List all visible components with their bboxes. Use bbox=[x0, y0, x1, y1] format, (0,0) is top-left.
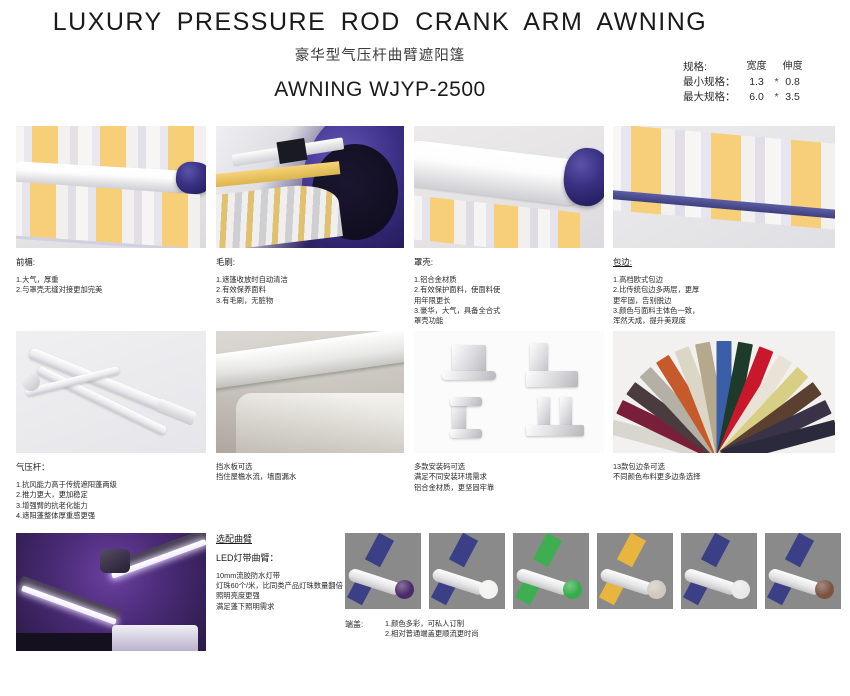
endcap-white bbox=[479, 580, 498, 599]
caption-line: 3.颜色与面料主体色一致， bbox=[613, 306, 835, 316]
fabric-swatch-upper bbox=[785, 533, 814, 567]
cassette-body bbox=[414, 139, 586, 207]
bracket-2-base bbox=[526, 371, 578, 387]
caption-heading: 罩壳: bbox=[414, 257, 604, 269]
table-row: 最小规格： 1.3 * 0.8 bbox=[683, 75, 808, 90]
wall-shadow bbox=[216, 331, 404, 453]
caption-line: 2.比传统包边多两层，更厚 bbox=[613, 285, 835, 295]
caption-endcaps: 端盖: 1.颜色多彩，可私人订制 2.相对普通端盖更顺流更时尚 bbox=[345, 619, 665, 640]
caption-line: 多款安装码可选 bbox=[414, 462, 604, 472]
caption-line: 浑然天成，提升美观度 bbox=[613, 316, 835, 326]
caption-line: 13款包边条可选 bbox=[613, 462, 835, 472]
shadow-foreground bbox=[16, 633, 112, 651]
spec-row-max-width: 6.0 bbox=[746, 90, 772, 105]
photo-gas-strut bbox=[16, 331, 206, 453]
caption-heading: 气压杆： bbox=[16, 462, 206, 474]
caption-line: 更牢固，告别脱边 bbox=[613, 296, 835, 306]
page-title-chinese: 豪华型气压杆曲臂遮阳篷 bbox=[0, 44, 760, 65]
fabric-swatch-upper bbox=[617, 533, 646, 567]
panel-edge-binding: 包边: 1.高档欧式包边 2.比传统包边多两层，更厚 更牢固，告别脱边 3.颜色… bbox=[613, 126, 835, 327]
panel-front-valance: 前楣: 1.大气，厚重 2.与罩壳无缝对接更加完美 bbox=[16, 126, 206, 296]
caption-line: 3.有毛刷，无脏物 bbox=[216, 296, 404, 306]
caption-line: 铝合金材质，更坚固牢靠 bbox=[414, 483, 604, 493]
cassette-below bbox=[112, 625, 198, 651]
caption-line: 3.增强臂的抗老化能力 bbox=[16, 501, 206, 511]
caption-edge-binding: 包边: 1.高档欧式包边 2.比传统包边多两层，更厚 更牢固，告别脱边 3.颜色… bbox=[613, 257, 835, 327]
spec-row-max-projection: 3.5 bbox=[782, 90, 808, 105]
caption-cassette-shell: 罩壳: 1.铝合金材质 2.有效保护面料，使面料使 用年限更长 3.豪华，大气，… bbox=[414, 257, 604, 327]
caption-line: 2.相对普通端盖更顺流更时尚 bbox=[385, 629, 665, 639]
endcap bbox=[175, 161, 206, 195]
caption-line: 2.有效保护面料，使面料使 bbox=[414, 285, 604, 295]
bracket-3-top bbox=[450, 397, 482, 406]
panel-cassette-shell: 罩壳: 1.铝合金材质 2.有效保护面料，使面料使 用年限更长 3.豪华，大气，… bbox=[414, 126, 604, 327]
caption-line: 罩壳功能 bbox=[414, 316, 604, 326]
caption-line: 用年限更长 bbox=[414, 296, 604, 306]
caption-front-valance: 前楣: 1.大气，厚重 2.与罩壳无缝对接更加完美 bbox=[16, 257, 206, 296]
rolled-fabric bbox=[216, 180, 343, 248]
endcap-purple bbox=[395, 580, 414, 599]
caption-line: 1.遮篷收放时自动清洁 bbox=[216, 275, 404, 285]
endcap-swatch-chrome[interactable] bbox=[681, 533, 757, 609]
table-row: 最大规格： 6.0 * 3.5 bbox=[683, 90, 808, 105]
endcap-swatch-brown[interactable] bbox=[765, 533, 841, 609]
caption-mounting-brackets: 多款安装码可选 满足不同安装环境需求 铝合金材质，更坚固牢靠 bbox=[414, 462, 604, 493]
endcap-green bbox=[563, 580, 582, 599]
spec-label: 规格: bbox=[683, 60, 746, 75]
caption-line: 4.遮阳蓬整体厚重感更强 bbox=[16, 511, 206, 521]
caption-heading: 毛刷: bbox=[216, 257, 404, 269]
fabric-swatch-upper bbox=[533, 533, 562, 567]
endcap-chrome bbox=[731, 580, 750, 599]
photo-cassette-shell bbox=[414, 126, 604, 248]
photo-brush bbox=[216, 126, 404, 248]
brush-strip bbox=[276, 138, 307, 164]
caption-line: 2.与罩壳无缝对接更加完美 bbox=[16, 285, 206, 295]
fabric-swatch-upper bbox=[701, 533, 730, 567]
caption-line: 1.大气，厚重 bbox=[16, 275, 206, 285]
product-model: AWNING WJYP-2500 bbox=[0, 78, 760, 102]
spec-sep: * bbox=[772, 90, 782, 105]
fabric-swatch-upper bbox=[365, 533, 394, 567]
caption-line: 2.有效保养面料 bbox=[216, 285, 404, 295]
caption-heading: 包边: bbox=[613, 257, 835, 269]
photo-front-valance bbox=[16, 126, 206, 248]
spec-col-projection: 伸度 bbox=[782, 60, 808, 75]
bracket-1-base bbox=[442, 371, 496, 380]
product-spec-sheet: LUXURY PRESSURE ROD CRANK ARM AWNING 豪华型… bbox=[0, 0, 850, 696]
caption-line: 2.推力更大，更加稳定 bbox=[16, 490, 206, 500]
panel-rain-deflector: 挡水板可选 挡住屋檐水流，墙面漏水 bbox=[216, 331, 404, 483]
endcap-swatch-white[interactable] bbox=[429, 533, 505, 609]
caption-line: 挡住屋檐水流，墙面漏水 bbox=[216, 472, 404, 482]
fabric-swatch-upper bbox=[449, 533, 478, 567]
caption-line: 不同颜色布料更多边条选择 bbox=[613, 472, 835, 482]
bracket-3-bottom bbox=[450, 429, 482, 438]
header: LUXURY PRESSURE ROD CRANK ARM AWNING 豪华型… bbox=[0, 0, 850, 118]
caption-line: 1.颜色多彩，可私人订制 bbox=[385, 619, 665, 629]
arm-bracket bbox=[155, 398, 197, 426]
photo-mounting-brackets bbox=[414, 331, 604, 453]
endcap-beige-grey bbox=[647, 580, 666, 599]
caption-trim-colors: 13款包边条可选 不同颜色布料更多边条选择 bbox=[613, 462, 835, 483]
page-title-english: LUXURY PRESSURE ROD CRANK ARM AWNING bbox=[0, 8, 760, 37]
photo-rain-deflector bbox=[216, 331, 404, 453]
caption-line: 1.高档欧式包边 bbox=[613, 275, 835, 285]
arm-elbow bbox=[100, 549, 130, 573]
spec-col-width: 宽度 bbox=[746, 60, 772, 75]
photo-led-arm bbox=[16, 533, 206, 651]
caption-line: 1.抗风能力高于传统遮阳蓬两级 bbox=[16, 480, 206, 490]
panel-led-arm bbox=[16, 533, 206, 651]
spec-row-max-label: 最大规格： bbox=[683, 90, 746, 105]
caption-rain-deflector: 挡水板可选 挡住屋檐水流，墙面漏水 bbox=[216, 462, 404, 483]
panel-trim-colors: 13款包边条可选 不同颜色布料更多边条选择 bbox=[613, 331, 835, 483]
spec-row-min-label: 最小规格： bbox=[683, 75, 746, 90]
caption-heading: 前楣: bbox=[16, 257, 206, 269]
endcap-swatch-strip bbox=[345, 533, 845, 613]
photo-edge-binding bbox=[613, 126, 835, 248]
caption-line: 1.铝合金材质 bbox=[414, 275, 604, 285]
endcap-brown bbox=[815, 580, 834, 599]
caption-line: 3.豪华，大气，具备全合式 bbox=[414, 306, 604, 316]
caption-brush: 毛刷: 1.遮篷收放时自动清洁 2.有效保养面料 3.有毛刷，无脏物 bbox=[216, 257, 404, 306]
spec-sep: * bbox=[772, 75, 782, 90]
endcap-swatch-green[interactable] bbox=[513, 533, 589, 609]
spec-table: 规格: 宽度 伸度 最小规格： 1.3 * 0.8 最大规格： 6.0 * 3.… bbox=[683, 60, 808, 106]
spec-row-min-projection: 0.8 bbox=[782, 75, 808, 90]
caption-line: 满足不同安装环境需求 bbox=[414, 472, 604, 482]
bracket-4-base bbox=[526, 425, 584, 436]
photo-trim-colors bbox=[613, 331, 835, 453]
endcap-label: 端盖: bbox=[345, 619, 363, 630]
panel-brush: 毛刷: 1.遮篷收放时自动清洁 2.有效保养面料 3.有毛刷，无脏物 bbox=[216, 126, 404, 306]
endcap-swatch-beige-grey[interactable] bbox=[597, 533, 673, 609]
color-fan bbox=[613, 331, 835, 453]
elbow-joint bbox=[22, 373, 40, 391]
spec-row-min-width: 1.3 bbox=[746, 75, 772, 90]
panel-gas-strut: 气压杆： 1.抗风能力高于传统遮阳蓬两级 2.推力更大，更加稳定 3.增强臂的抗… bbox=[16, 331, 206, 521]
endcap-swatch-purple[interactable] bbox=[345, 533, 421, 609]
caption-gas-strut: 气压杆： 1.抗风能力高于传统遮阳蓬两级 2.推力更大，更加稳定 3.增强臂的抗… bbox=[16, 462, 206, 521]
caption-line: 挡水板可选 bbox=[216, 462, 404, 472]
panel-mounting-brackets: 多款安装码可选 满足不同安装环境需求 铝合金材质，更坚固牢靠 bbox=[414, 331, 604, 493]
